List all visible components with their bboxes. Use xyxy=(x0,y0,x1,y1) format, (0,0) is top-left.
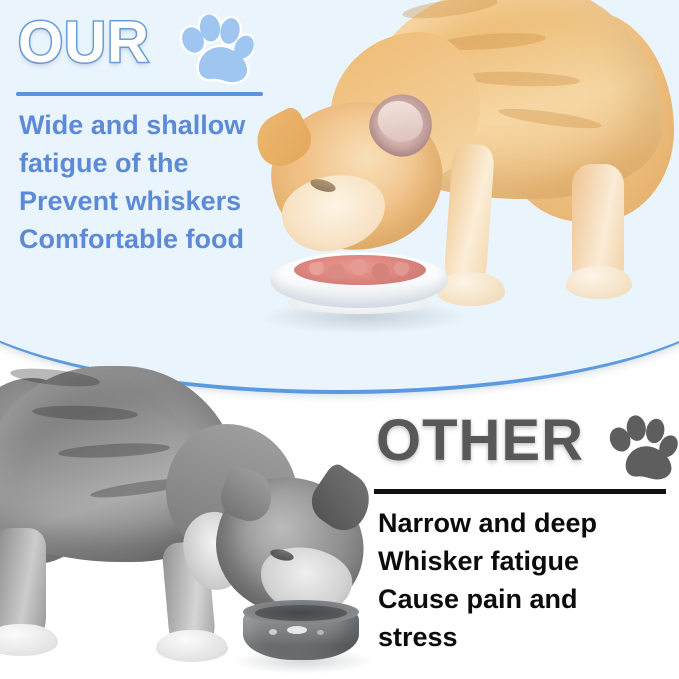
bowl-interior xyxy=(255,605,347,621)
our-line-1: Wide and shallow xyxy=(19,106,245,144)
our-line-2: fatigue of the xyxy=(19,144,245,182)
other-line-1: Narrow and deep xyxy=(378,504,597,542)
paw-print-icon xyxy=(604,414,678,484)
dish-food xyxy=(294,255,426,285)
bowl-highlight xyxy=(269,629,277,635)
gray-cat-front-paw xyxy=(156,630,228,662)
wide-shallow-dish xyxy=(270,252,448,318)
our-divider-rule xyxy=(16,92,263,96)
paw-print-icon xyxy=(176,14,254,86)
bowl-highlight xyxy=(287,626,307,634)
our-description: Wide and shallow fatigue of the Prevent … xyxy=(19,106,245,258)
our-line-3: Prevent whiskers xyxy=(19,182,245,220)
other-line-2: Whisker fatigue xyxy=(378,542,597,580)
other-line-4: stress xyxy=(378,618,597,656)
orange-cat-back-paw xyxy=(566,266,632,299)
other-line-3: Cause pain and xyxy=(378,580,597,618)
comparison-infographic: OUR Wide and shallow fatigue of the Prev… xyxy=(0,0,679,679)
our-heading: OUR xyxy=(18,14,150,72)
other-heading: OTHER xyxy=(376,412,584,470)
gray-cat-back-paw xyxy=(0,624,58,656)
narrow-deep-bowl xyxy=(243,600,359,662)
other-divider-rule xyxy=(374,489,666,494)
other-description: Narrow and deep Whisker fatigue Cause pa… xyxy=(378,504,597,656)
bowl-highlight xyxy=(317,630,324,635)
our-line-4: Comfortable food xyxy=(19,220,245,258)
